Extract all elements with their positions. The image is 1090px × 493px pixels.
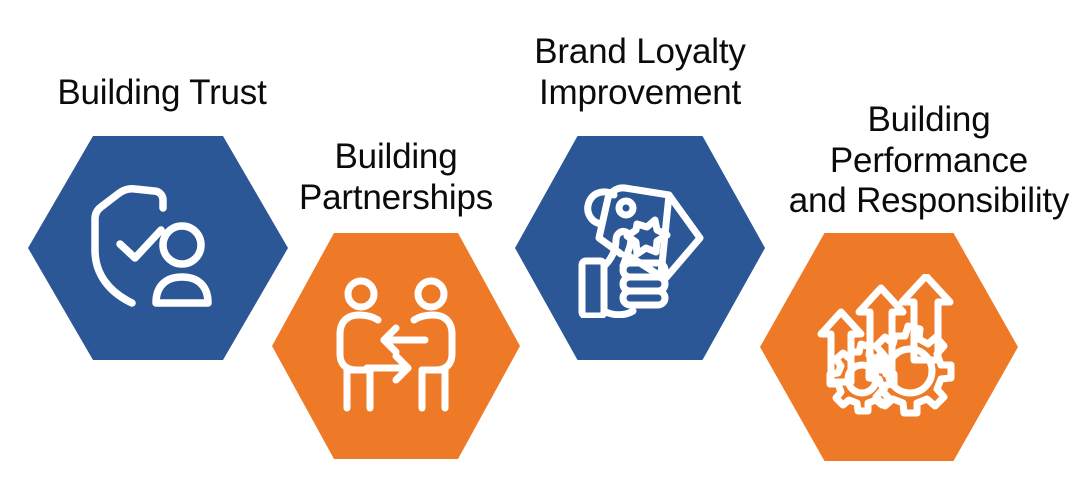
shield-check-person-icon <box>28 136 288 360</box>
label-building-performance-and-responsibility: Building Performance and Responsibility <box>768 100 1090 222</box>
two-people-exchange-arrows-icon <box>272 233 520 459</box>
hand-holding-price-tag-star-icon <box>515 136 765 360</box>
hexagon-building-performance-and-responsibility[interactable] <box>760 233 1018 461</box>
hexagon-building-trust[interactable] <box>28 136 288 360</box>
growth-arrows-gears-icon <box>760 233 1018 461</box>
infographic-canvas: Building Trust Building Partnerships <box>0 0 1090 493</box>
hexagon-brand-loyalty-improvement[interactable] <box>515 136 765 360</box>
label-building-trust: Building Trust <box>12 73 312 114</box>
label-building-partnerships: Building Partnerships <box>270 137 522 218</box>
label-brand-loyalty-improvement: Brand Loyalty Improvement <box>512 32 768 113</box>
hexagon-building-partnerships[interactable] <box>272 233 520 459</box>
